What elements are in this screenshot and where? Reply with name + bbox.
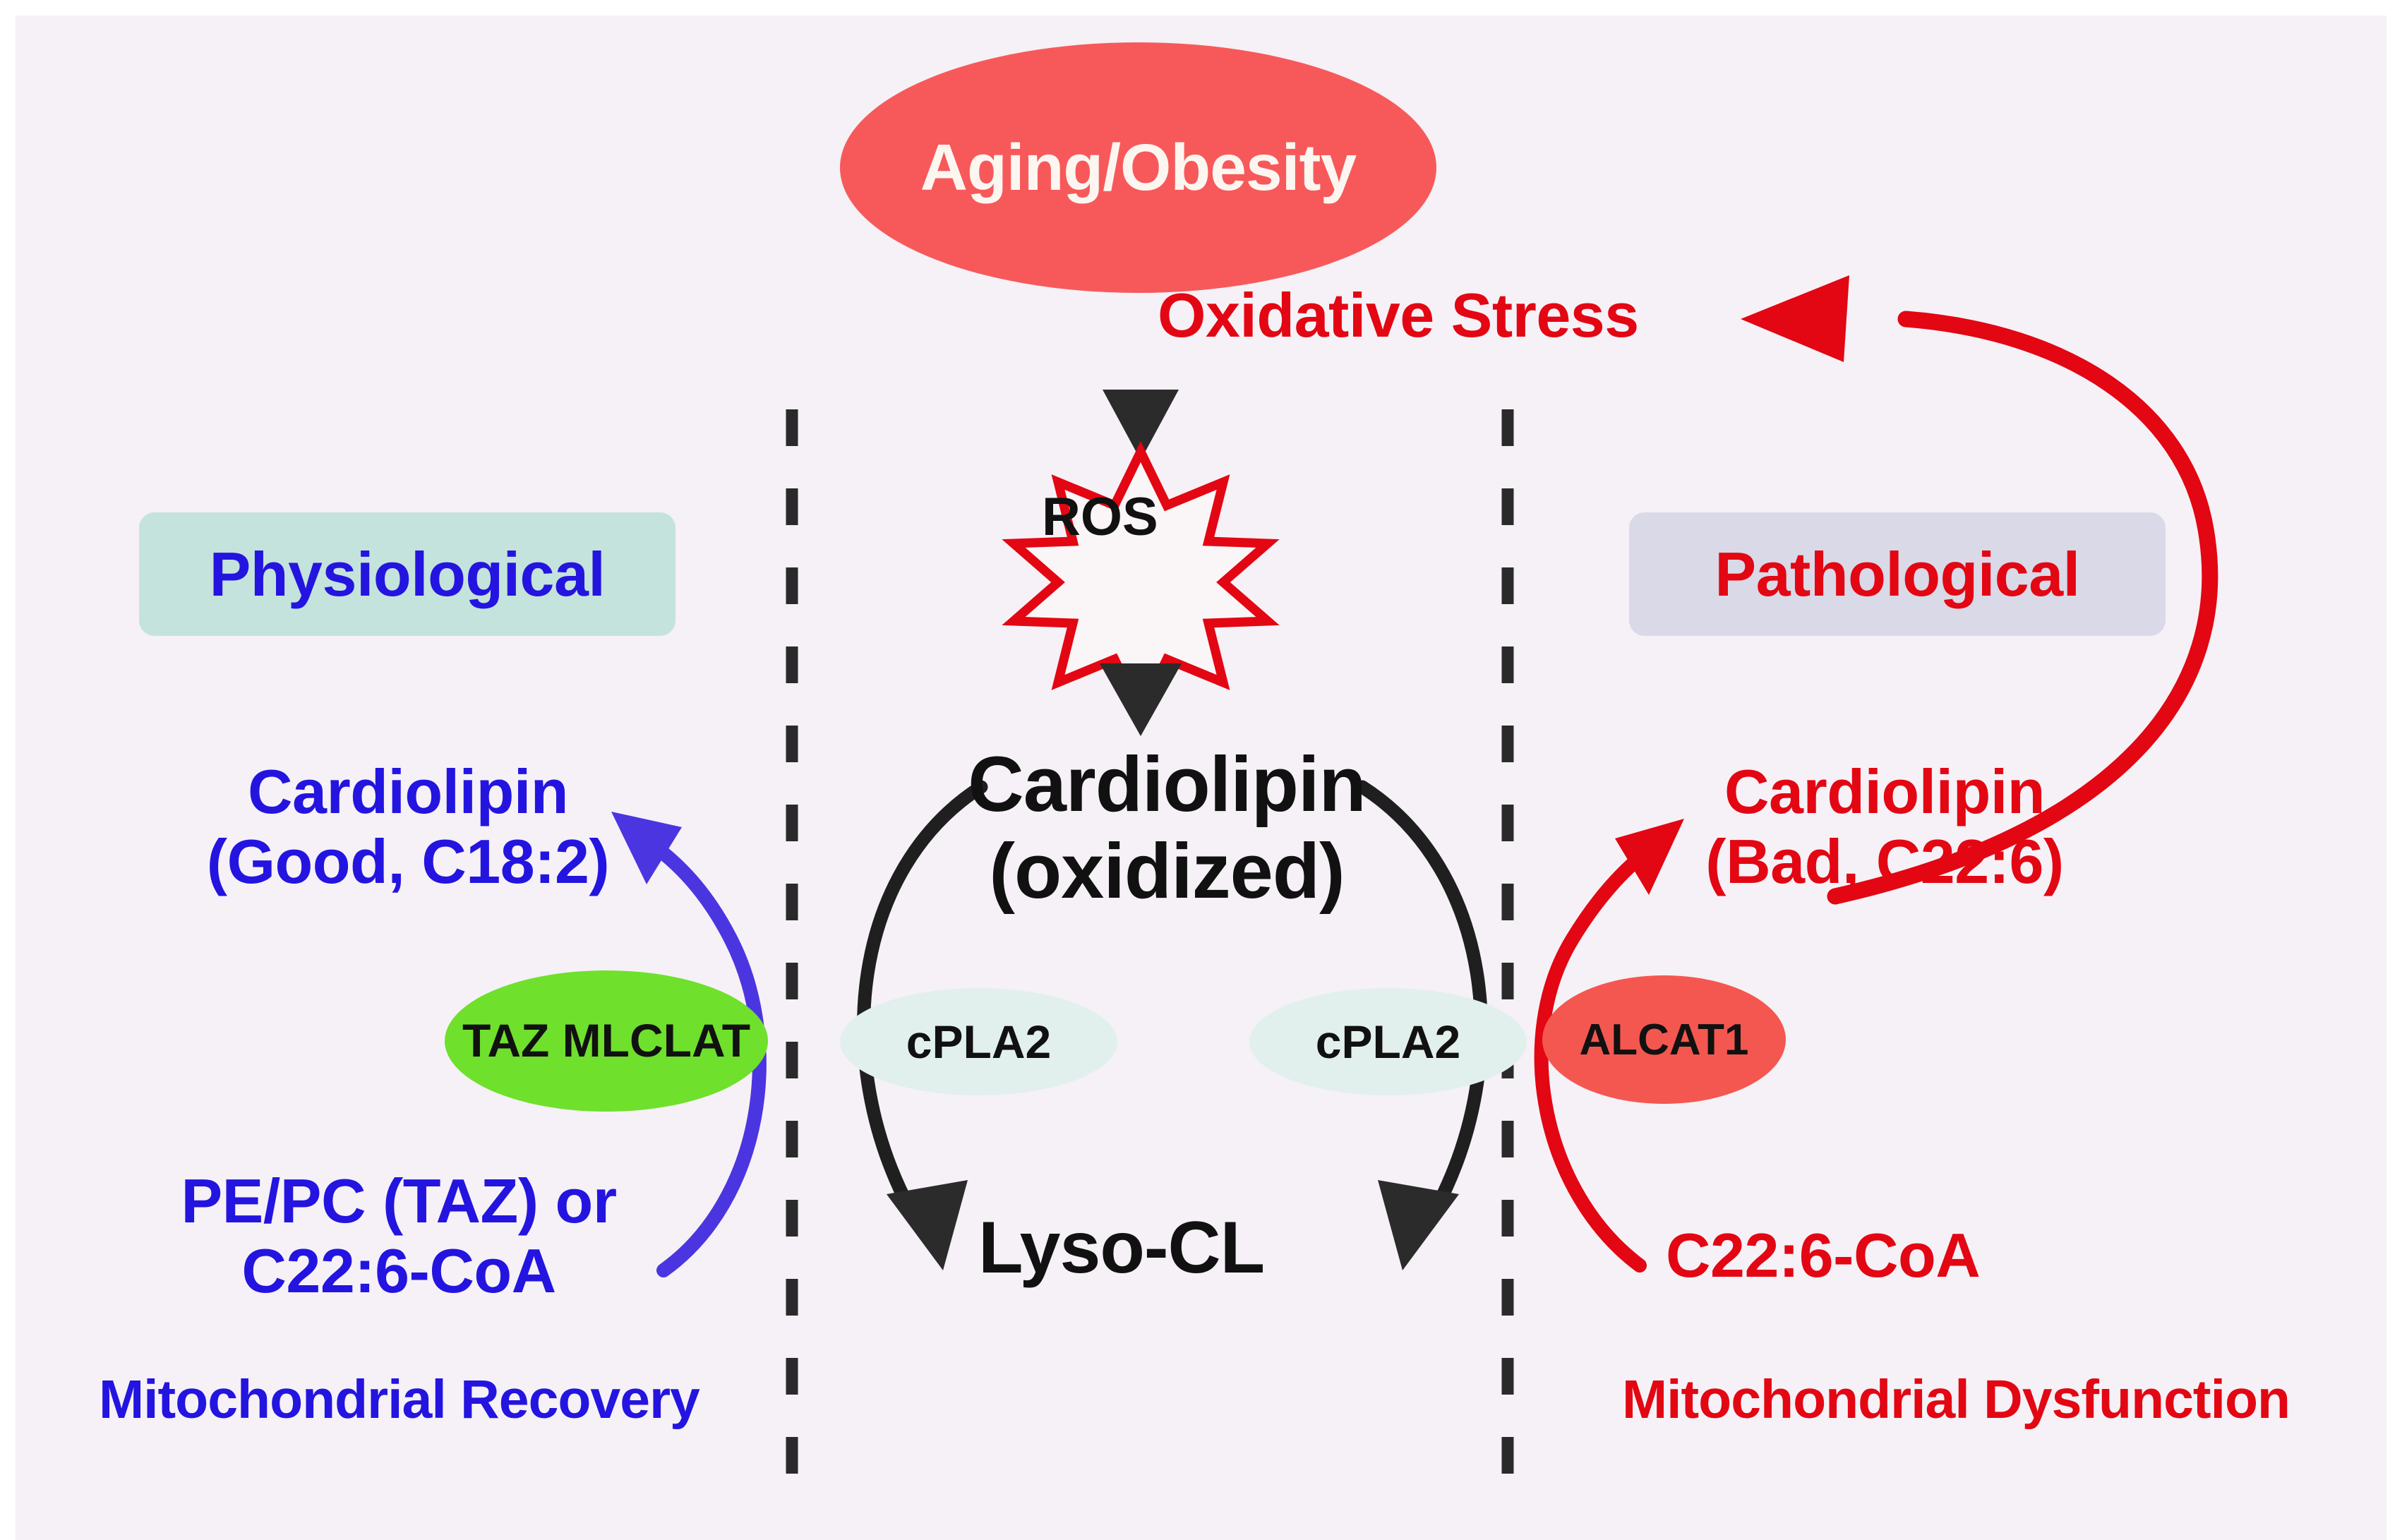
mitochondrial-recovery-label: Mitochondrial Recovery bbox=[99, 1369, 699, 1430]
pathological-tag: Pathological bbox=[1629, 512, 2166, 636]
physiological-label: Physiological bbox=[210, 539, 606, 610]
aging-obesity-node: Aging/Obesity bbox=[840, 42, 1436, 293]
cpla2-left-enzyme-node: cPLA2 bbox=[840, 988, 1117, 1095]
taz-mlclat-enzyme-node: TAZ MLCLAT bbox=[445, 970, 768, 1112]
alcat1-label: ALCAT1 bbox=[1580, 1015, 1749, 1065]
oxidative-stress-label: Oxidative Stress bbox=[1158, 281, 1639, 351]
alcat1-enzyme-node: ALCAT1 bbox=[1542, 975, 1786, 1104]
cpla2-left-label: cPLA2 bbox=[906, 1015, 1051, 1069]
ros-label: ROS bbox=[1042, 487, 1158, 547]
taz-mlclat-label: TAZ MLCLAT bbox=[462, 1016, 750, 1066]
mitochondrial-dysfunction-label: Mitochondrial Dysfunction bbox=[1622, 1369, 2290, 1430]
pe-pc-substrate-label: PE/PC (TAZ) or C22:6-CoA bbox=[106, 1167, 692, 1306]
pathological-label: Pathological bbox=[1715, 539, 2079, 610]
c226-coa-substrate-label: C22:6-CoA bbox=[1666, 1221, 1980, 1291]
cardiolipin-bad-label: Cardiolipin (Bad, C22:6) bbox=[1652, 757, 2118, 896]
diagram-canvas: Aging/Obesity Oxidative Stress ROS Physi… bbox=[0, 0, 2402, 1540]
aging-obesity-label: Aging/Obesity bbox=[920, 130, 1356, 205]
physiological-tag: Physiological bbox=[139, 512, 675, 636]
lyso-cl-label: Lyso-CL bbox=[978, 1207, 1264, 1289]
cardiolipin-oxidized-label: Cardiolipin (oxidized) bbox=[884, 741, 1449, 915]
cpla2-right-enzyme-node: cPLA2 bbox=[1249, 988, 1527, 1095]
cpla2-right-label: cPLA2 bbox=[1316, 1015, 1460, 1069]
cardiolipin-good-label: Cardiolipin (Good, C18:2) bbox=[182, 757, 634, 896]
